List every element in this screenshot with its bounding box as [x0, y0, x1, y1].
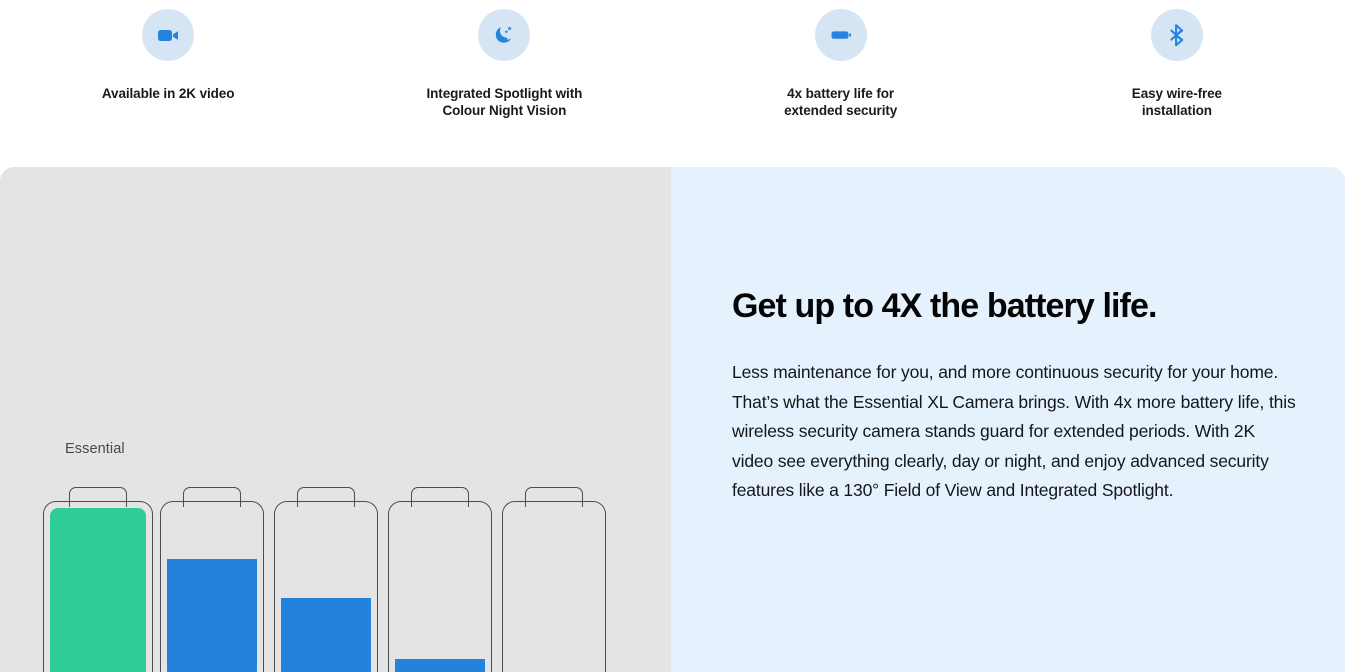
panel-body-text: Less maintenance for you, and more conti…	[732, 358, 1298, 506]
copy-panel: Get up to 4X the battery life. Less main…	[671, 167, 1345, 672]
bluetooth-icon	[1151, 9, 1203, 61]
battery-slot	[155, 487, 269, 672]
battery-body	[160, 501, 264, 672]
feature-strip: Available in 2K video Integrated Spotlig…	[0, 0, 1345, 167]
copy-block: Get up to 4X the battery life. Less main…	[732, 285, 1298, 506]
battery-body	[502, 501, 606, 672]
feature-item-wire-free: Easy wire-free installation	[1009, 0, 1345, 119]
panel-heading: Get up to 4X the battery life.	[732, 285, 1298, 327]
battery-graphic	[502, 487, 606, 672]
battery-fill	[395, 659, 485, 672]
battery-body	[388, 501, 492, 672]
battery-icon	[815, 9, 867, 61]
split-panel: Essential	[0, 167, 1345, 672]
battery-graphic	[274, 487, 378, 672]
battery-chart	[41, 487, 611, 672]
battery-fill	[281, 598, 371, 672]
feature-item-battery-life: 4x battery life for extended security	[673, 0, 1009, 119]
video-camera-icon	[142, 9, 194, 61]
battery-graphic	[160, 487, 264, 672]
battery-body	[43, 501, 153, 672]
battery-fill	[167, 559, 257, 672]
feature-item-night-vision: Integrated Spotlight with Colour Night V…	[336, 0, 672, 119]
battery-fill	[50, 508, 146, 672]
chart-title: Essential	[65, 441, 125, 457]
battery-body	[274, 501, 378, 672]
feature-label: Integrated Spotlight with Colour Night V…	[427, 85, 583, 119]
feature-label: Easy wire-free installation	[1132, 85, 1222, 119]
battery-chart-panel: Essential	[0, 167, 671, 672]
battery-slot	[269, 487, 383, 672]
battery-slot	[383, 487, 497, 672]
battery-graphic	[388, 487, 492, 672]
feature-item-2k-video: Available in 2K video	[0, 0, 336, 102]
battery-slot	[41, 487, 155, 672]
feature-label: Available in 2K video	[102, 85, 234, 102]
battery-graphic	[43, 487, 153, 672]
feature-label: 4x battery life for extended security	[784, 85, 897, 119]
battery-slot	[497, 487, 611, 672]
moon-stars-night-vision-icon	[478, 9, 530, 61]
